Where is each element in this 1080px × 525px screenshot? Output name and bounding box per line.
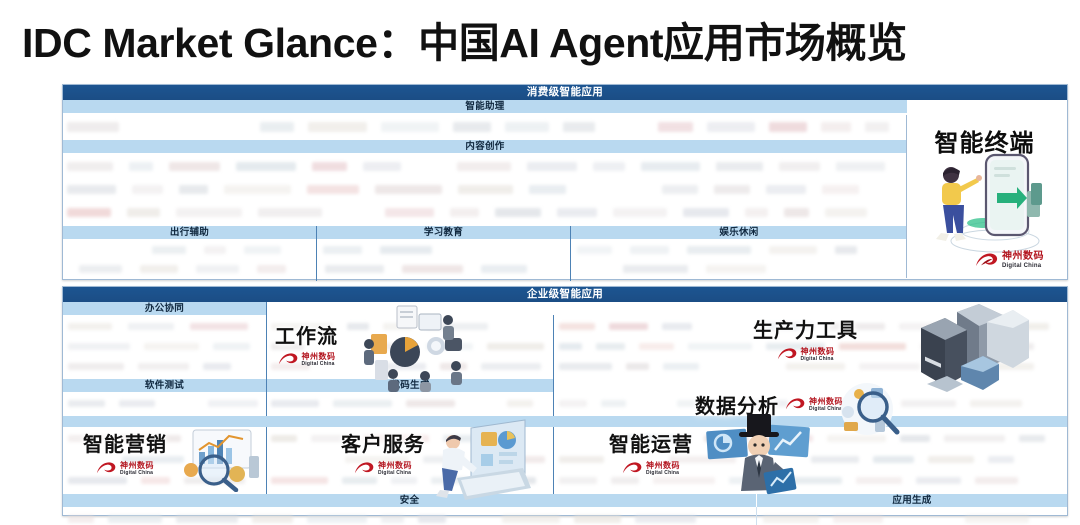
vendor-logo-mark (487, 343, 544, 350)
vendor-logo-mark (481, 265, 527, 273)
logo-strip-app-generation (763, 510, 1061, 525)
enterprise-section-header: 企业级智能应用 (63, 287, 1067, 302)
vendor-logo-mark (67, 185, 116, 194)
logo-strip-smart-assistant (67, 115, 902, 139)
logo-strip-marketing-2 (68, 451, 260, 468)
vendor-logo-mark (333, 400, 392, 407)
vendor-logo-mark (325, 265, 384, 273)
vendor-logo-mark (811, 456, 859, 463)
vendor-logo-mark (688, 343, 752, 350)
vendor-logo-mark (458, 185, 513, 194)
vendor-logo-mark (900, 435, 930, 442)
vendor-logo-mark (380, 246, 432, 254)
logo-strip-operations-1 (559, 430, 1061, 447)
vendor-logo-mark (347, 323, 369, 330)
vendor-logo-mark (141, 477, 170, 484)
vendor-logo-mark (1019, 435, 1045, 442)
enterprise-col-header-office-collab: 办公协同 (63, 302, 266, 315)
enterprise-col-header-code-generation: 代码生成 (267, 379, 553, 392)
logo-strip-productivity-2 (559, 338, 1061, 355)
vendor-logo-mark (779, 162, 820, 171)
smart-terminal-title: 智能终端 (907, 123, 1062, 158)
vendor-logo-mark (593, 162, 625, 171)
logo-strip-productivity-1 (559, 318, 1061, 335)
vendor-logo-mark (478, 456, 545, 463)
vendor-logo-mark (196, 265, 239, 273)
vendor-logo-mark (582, 185, 646, 194)
vendor-logo-mark (766, 343, 825, 350)
vendor-logo-mark (677, 400, 726, 407)
vendor-logo-mark (707, 122, 755, 132)
vendor-logo-mark (856, 477, 902, 484)
vendor-logo-mark (68, 343, 130, 350)
vendor-logo-mark (342, 477, 377, 484)
vendor-logo-mark (271, 343, 304, 350)
logo-strip-customer-service-1 (271, 430, 549, 447)
vendor-logo-mark (68, 456, 108, 463)
vendor-logo-mark (383, 323, 412, 330)
smart-terminal-card: 智能终端 (906, 115, 1066, 278)
logo-strip-content-creation-3 (67, 201, 902, 223)
vendor-logo-mark (557, 208, 597, 217)
vendor-logo-mark (897, 515, 951, 523)
vendor-logo-mark (975, 477, 1018, 484)
vendor-logo-mark (559, 343, 582, 350)
vendor-logo-mark (899, 323, 943, 330)
vendor-logo-mark (363, 162, 401, 171)
vendor-logo-mark (821, 122, 851, 132)
vendor-logo-mark (639, 343, 674, 350)
vendor-logo-mark (152, 246, 186, 254)
vendor-logo-mark (323, 246, 362, 254)
vendor-logo-mark (204, 246, 226, 254)
vendor-logo-mark (236, 162, 296, 171)
vendor-logo-mark (873, 456, 914, 463)
vendor-logo-mark (577, 246, 612, 254)
vendor-logo-mark (271, 456, 331, 463)
vendor-logo-mark (786, 363, 845, 370)
vendor-logo-mark (169, 162, 220, 171)
vendor-logo-mark (345, 456, 409, 463)
vendor-logo-mark (769, 246, 817, 254)
vendor-logo-mark (108, 515, 162, 523)
vendor-logo-mark (716, 162, 763, 171)
vendor-logo-mark (406, 400, 455, 407)
vendor-logo-mark (68, 515, 94, 523)
vendor-logo-mark (450, 246, 502, 254)
logo-strip-marketing-1 (68, 430, 260, 447)
vendor-logo-mark (505, 122, 549, 132)
vendor-logo-mark (706, 265, 766, 273)
vendor-logo-mark (453, 122, 491, 132)
vendor-logo-mark (559, 456, 604, 463)
vendor-logo-mark (129, 162, 153, 171)
vendor-logo-mark (704, 435, 748, 442)
vendor-logo-mark (944, 435, 1005, 442)
vendor-logo-mark (122, 456, 184, 463)
vendor-logo-mark (859, 363, 920, 370)
vendor-logo-mark (307, 185, 359, 194)
vendor-logo-mark (67, 122, 119, 132)
vendor-logo-mark (308, 122, 367, 132)
vendor-logo-mark (928, 456, 974, 463)
vendor-logo-mark (596, 343, 625, 350)
vendor-logo-mark (766, 185, 806, 194)
vendor-logo-mark (312, 162, 347, 171)
vendor-logo-mark (140, 265, 178, 273)
vendor-logo-mark (635, 515, 696, 523)
vendor-logo-mark (440, 363, 467, 370)
logo-strip-entertainment-2 (623, 260, 895, 278)
vendor-logo-mark (957, 323, 1012, 330)
vendor-logo-mark (311, 435, 350, 442)
vendor-logo-mark (574, 515, 621, 523)
vendor-logo-mark (763, 515, 819, 523)
vendor-logo-mark (842, 400, 887, 407)
logo-strip-productivity-3 (559, 358, 1061, 375)
vendor-logo-mark (469, 400, 493, 407)
vendor-logo-mark (68, 435, 105, 442)
vendor-logo-mark (179, 185, 208, 194)
consumer-col-header-travel: 出行辅助 (63, 226, 316, 239)
vendor-logo-mark (785, 477, 842, 484)
vendor-logo-mark (426, 343, 473, 350)
brand-name-en: Digital China (1002, 263, 1044, 269)
vendor-logo-mark (450, 208, 479, 217)
vendor-logo-mark (128, 323, 174, 330)
vendor-logo-mark (213, 343, 250, 350)
vendor-logo-mark (613, 208, 667, 217)
logo-strip-travel-2 (79, 260, 309, 278)
logo-strip-operations-2 (559, 451, 1061, 468)
enterprise-column-divider-2 (553, 302, 554, 505)
vendor-logo-mark (965, 515, 1029, 523)
vendor-logo-mark (67, 208, 111, 217)
consumer-column-divider-2 (570, 226, 571, 281)
logo-strip-content-creation-2 (67, 178, 902, 200)
vendor-logo-mark (977, 363, 1034, 370)
vendor-logo-mark (244, 246, 281, 254)
vendor-logo-mark (385, 208, 434, 217)
consumer-section: 消费级智能应用 智能助理 内容创作 出行辅助 学习教育 娱乐休闲 智能终端 (62, 84, 1068, 280)
logo-strip-office-3 (68, 358, 260, 375)
logo-strip-content-creation-1 (67, 155, 902, 177)
vendor-logo-mark (713, 363, 772, 370)
vendor-logo-mark (687, 246, 751, 254)
vendor-logo-mark (381, 515, 404, 523)
logo-strip-customer-service-2 (271, 451, 549, 468)
vendor-logo-mark (208, 400, 258, 407)
vendor-logo-mark (375, 185, 442, 194)
consumer-section-header: 消费级智能应用 (63, 85, 1067, 100)
vendor-logo-mark (417, 162, 441, 171)
enterprise-row2-spacer (554, 379, 1067, 392)
vendor-logo-mark (601, 400, 626, 407)
vendor-logo-mark (68, 400, 105, 407)
vendor-logo-mark (630, 246, 669, 254)
logo-strip-code-generation (271, 395, 549, 412)
vendor-logo-mark (559, 400, 587, 407)
vendor-logo-mark (640, 400, 663, 407)
brand-name-cn: 神州数码 (1002, 252, 1044, 262)
vendor-logo-mark (68, 363, 124, 370)
vendor-logo-mark (338, 208, 369, 217)
vendor-logo-mark (307, 515, 367, 523)
vendor-logo-mark (756, 323, 814, 330)
vendor-logo-mark (431, 477, 467, 484)
vendor-logo-mark (934, 363, 963, 370)
logo-strip-education-1 (323, 241, 563, 259)
vendor-logo-mark (324, 363, 370, 370)
digital-china-logo-smart-terminal: 神州数码 Digital China (975, 252, 1044, 269)
consumer-row-header-smart-assistant: 智能助理 (63, 100, 907, 113)
vendor-logo-mark (714, 185, 750, 194)
vendor-logo-mark (176, 208, 242, 217)
vendor-logo-mark (426, 323, 488, 330)
vendor-logo-mark (916, 477, 961, 484)
vendor-logo-mark (623, 265, 688, 273)
vendor-logo-mark (195, 435, 222, 442)
vendor-logo-mark (258, 208, 322, 217)
vendor-logo-mark (252, 515, 293, 523)
vendor-logo-mark (835, 246, 857, 254)
enterprise-section: 企业级智能应用 办公协同 软件测试 代码生成 (62, 286, 1068, 516)
logo-strip-security (68, 510, 753, 525)
enterprise-col-header-software-testing: 软件测试 (63, 379, 266, 392)
enterprise-column-divider-1 (266, 302, 267, 505)
vendor-logo-mark (740, 400, 788, 407)
vendor-logo-mark (802, 400, 828, 407)
logo-strip-education-2 (325, 260, 563, 278)
vendor-logo-mark (559, 363, 612, 370)
vendor-logo-mark (706, 323, 742, 330)
vendor-logo-mark (169, 400, 194, 407)
vendor-logo-mark (443, 435, 506, 442)
vendor-logo-mark (260, 122, 294, 132)
vendor-logo-mark (769, 122, 807, 132)
vendor-logo-mark (67, 162, 113, 171)
enterprise-row-header-security: 安全 (63, 494, 756, 507)
vendor-logo-mark (559, 477, 597, 484)
logo-strip-travel-1 (69, 241, 309, 259)
vendor-logo-mark (144, 343, 199, 350)
vendor-logo-mark (418, 515, 446, 523)
consumer-col-header-entertainment: 娱乐休闲 (571, 226, 907, 239)
vendor-logo-mark (822, 185, 859, 194)
vendor-logo-mark (683, 208, 729, 217)
logo-strip-office-2 (68, 338, 260, 355)
vendor-logo-mark (423, 456, 464, 463)
vendor-logo-mark (559, 323, 595, 330)
logo-strip-entertainment-1 (577, 241, 895, 259)
vendor-logo-mark (988, 456, 1014, 463)
vendor-logo-mark (224, 185, 291, 194)
vendor-logo-mark (828, 323, 885, 330)
logo-strip-data-analysis (559, 395, 1061, 412)
vendor-logo-mark (203, 363, 231, 370)
consumer-col-header-education: 学习教育 (317, 226, 570, 239)
vendor-logo-mark (920, 343, 966, 350)
vendor-logo-mark (658, 122, 693, 132)
vendor-logo-mark (653, 477, 715, 484)
vendor-logo-mark (179, 122, 246, 132)
vendor-logo-mark (784, 265, 848, 273)
vendor-logo-mark (836, 162, 885, 171)
vendor-logo-mark (626, 363, 649, 370)
vendor-logo-mark (529, 185, 566, 194)
enterprise-row-header-app-generation: 应用生成 (757, 494, 1067, 507)
vendor-logo-mark (750, 456, 797, 463)
vendor-logo-mark (641, 162, 700, 171)
logo-strip-software-testing (68, 395, 260, 412)
vendor-logo-mark (133, 122, 165, 132)
vendor-logo-mark (190, 323, 248, 330)
vendor-logo-mark (827, 435, 886, 442)
vendor-logo-mark (520, 435, 549, 442)
consumer-column-divider-1 (316, 226, 317, 281)
page-title: IDC Market Glance：中国AI Agent应用市场概览 (22, 8, 1062, 70)
vendor-logo-mark (729, 477, 771, 484)
vendor-logo-mark (271, 363, 310, 370)
vendor-logo-mark (609, 323, 648, 330)
vendor-logo-mark (825, 208, 867, 217)
vendor-logo-mark (563, 122, 595, 132)
vendor-logo-mark (745, 208, 768, 217)
vendor-logo-mark (119, 400, 155, 407)
vendor-logo-mark (527, 162, 577, 171)
vendor-logo-mark (198, 456, 251, 463)
vendor-logo-mark (257, 265, 286, 273)
logo-strip-customer-service-3 (271, 472, 549, 489)
logo-strip-office-1 (68, 318, 260, 335)
logo-strip-workflow-3 (271, 358, 549, 375)
vendor-logo-mark (833, 515, 883, 523)
vendor-logo-mark (402, 265, 463, 273)
vendor-logo-mark (663, 363, 699, 370)
vendor-logo-mark (762, 435, 813, 442)
vendor-logo-mark (457, 162, 511, 171)
vendor-logo-mark (502, 515, 560, 523)
logo-strip-workflow-1 (271, 318, 549, 335)
vendor-logo-mark (391, 477, 417, 484)
enterprise-bottom-divider (756, 507, 757, 525)
vendor-logo-mark (364, 435, 429, 442)
vendor-logo-mark (481, 363, 541, 370)
vendor-logo-mark (271, 400, 319, 407)
vendor-logo-mark (68, 477, 127, 484)
consumer-section-body: 智能助理 内容创作 出行辅助 学习教育 娱乐休闲 智能终端 (63, 100, 1067, 279)
vendor-logo-mark (618, 456, 655, 463)
vendor-logo-mark (611, 477, 639, 484)
vendor-logo-mark (384, 363, 426, 370)
vendor-logo-mark (460, 515, 488, 523)
vendor-logo-mark (68, 323, 112, 330)
vendor-logo-mark (271, 435, 297, 442)
vendor-logo-mark (376, 343, 412, 350)
vendor-logo-mark (381, 122, 439, 132)
vendor-logo-mark (138, 363, 189, 370)
vendor-logo-mark (609, 122, 644, 132)
digital-china-swoosh-icon (975, 252, 999, 269)
vendor-logo-mark (79, 265, 122, 273)
vendor-logo-mark (970, 400, 1022, 407)
person-with-smartphone-icon (923, 149, 1055, 259)
vendor-logo-mark (839, 343, 906, 350)
logo-strip-marketing-3 (68, 472, 260, 489)
vendor-logo-mark (132, 185, 163, 194)
logo-strip-operations-3 (559, 472, 1061, 489)
enterprise-row3-divider-band (63, 416, 1067, 427)
vendor-logo-mark (669, 456, 736, 463)
enterprise-section-body: 办公协同 软件测试 代码生成 安全 应用生成 (63, 302, 1067, 515)
logo-strip-workflow-2 (271, 338, 549, 355)
vendor-logo-mark (901, 400, 956, 407)
vendor-logo-mark (69, 246, 134, 254)
vendor-logo-mark (127, 208, 160, 217)
vendor-logo-mark (662, 185, 698, 194)
vendor-logo-mark (495, 208, 541, 217)
vendor-logo-mark (184, 477, 245, 484)
vendor-logo-mark (559, 435, 611, 442)
vendor-logo-mark (784, 208, 809, 217)
consumer-row-header-content-creation: 内容创作 (63, 140, 907, 153)
vendor-logo-mark (176, 515, 238, 523)
vendor-logo-mark (481, 477, 536, 484)
enterprise-row1-spacer (267, 302, 1067, 315)
vendor-logo-mark (318, 343, 362, 350)
vendor-logo-mark (980, 343, 1034, 350)
vendor-logo-mark (865, 122, 889, 132)
vendor-logo-mark (625, 435, 690, 442)
vendor-logo-mark (507, 400, 533, 407)
vendor-logo-mark (662, 323, 692, 330)
vendor-logo-mark (119, 435, 181, 442)
vendor-logo-mark (271, 323, 333, 330)
vendor-logo-mark (1026, 323, 1049, 330)
vendor-logo-mark (271, 477, 328, 484)
